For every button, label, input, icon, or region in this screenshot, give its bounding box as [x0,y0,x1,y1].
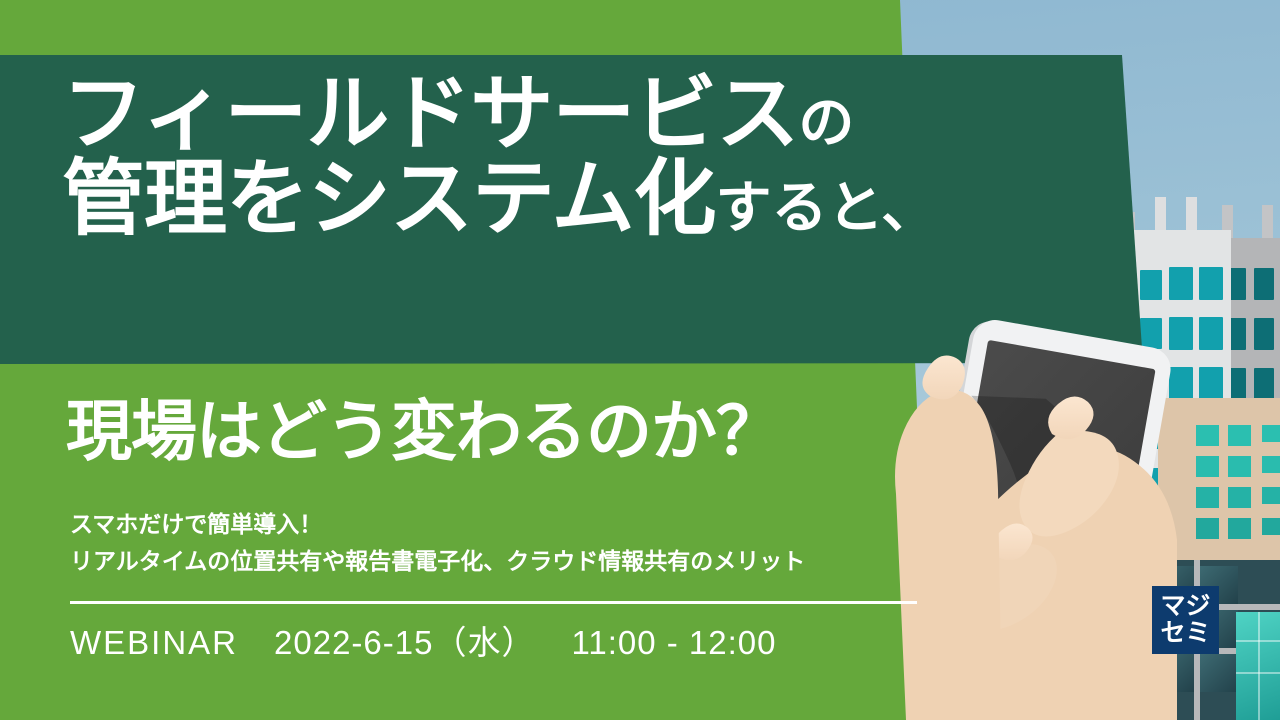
divider-rule [70,601,917,604]
subcopy-block: スマホだけで簡単導入！ リアルタイムの位置共有や報告書電子化、クラウド情報共有の… [70,506,805,581]
headline-block: フィールドサービスの 管理をシステム化すると、 [62,72,1072,241]
majisemi-logo[interactable]: マジ セミ [1152,586,1219,654]
subcopy-line-1: スマホだけで簡単導入！ [70,506,805,543]
webinar-time: 11:00 - 12:00 [571,624,776,661]
webinar-label: WEBINAR [70,624,238,661]
headline-line-2: 管理をシステム化すると、 [62,157,1072,242]
headline-line-3: 現場はどう変わるのか？ [66,378,781,474]
logo-line-2: セミ [1160,620,1210,647]
webinar-schedule: WEBINAR2022-6-15（水）11:00 - 12:00 [70,616,777,664]
subcopy-line-2: リアルタイムの位置共有や報告書電子化、クラウド情報共有のメリット [70,543,805,580]
headline-line-2-main: 管理をシステム化 [62,152,716,245]
headline-line-2-suffix: すると、 [716,176,938,239]
webinar-banner: フィールドサービスの 管理をシステム化すると、 現場はどう変わるのか？ スマホだ… [0,0,1280,720]
headline-line-1-main: フィールドサービス [62,67,798,160]
headline-line-1-suffix: の [798,91,854,154]
webinar-date: 2022-6-15（水） [274,624,535,661]
headline-line-1: フィールドサービスの [62,72,1072,157]
logo-line-1: マジ [1160,593,1210,620]
